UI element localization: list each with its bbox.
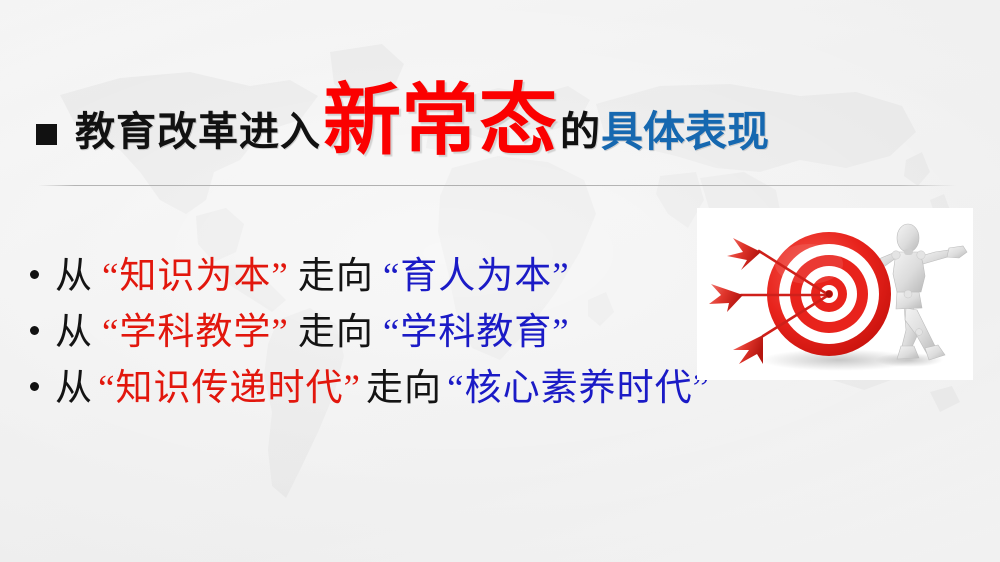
- bullet-1-seg-3: “育人为本”: [383, 258, 570, 295]
- bullet-1-seg-0: 从: [55, 258, 93, 295]
- slide-canvas: 教育改革进入 新常态 的 具体表现 从 “知识为本” 走向 “育人为本” 从 “…: [0, 0, 1000, 562]
- list-item: 从 “知识为本” 走向 “育人为本”: [30, 258, 710, 314]
- title-divider: [38, 185, 956, 186]
- bullet-3-seg-0: 从: [55, 370, 93, 407]
- bullet-2-seg-2: 走向: [298, 314, 374, 351]
- title-segment-red: 新常态: [323, 88, 557, 154]
- bullet-2-seg-1: “学科教学”: [102, 314, 289, 351]
- title-segment-de: 的: [560, 112, 600, 152]
- bullet-1-seg-1: “知识为本”: [102, 258, 289, 295]
- list-item: 从 “知识传递时代” 走向 “核心素养时代”: [30, 370, 710, 426]
- round-bullet-icon: [30, 326, 39, 335]
- bullet-2-seg-3: “学科教育”: [383, 314, 570, 351]
- bullet-3-seg-3: “核心素养时代”: [447, 370, 710, 407]
- bullet-3-seg-1: “知识传递时代”: [98, 370, 361, 407]
- bullet-2-seg-0: 从: [55, 314, 93, 351]
- bullet-list: 从 “知识为本” 走向 “育人为本” 从 “学科教学” 走向 “学科教育” 从 …: [30, 258, 710, 426]
- title-segment-black: 教育改革进入: [75, 112, 321, 152]
- bullet-1-seg-2: 走向: [298, 258, 374, 295]
- square-bullet-icon: [36, 124, 57, 145]
- page-title: 教育改革进入 新常态 的 具体表现: [36, 88, 769, 154]
- title-segment-blue: 具体表现: [601, 111, 769, 153]
- bullet-3-seg-2: 走向: [366, 370, 442, 407]
- round-bullet-icon: [30, 270, 39, 279]
- target-illustration-image: [697, 208, 973, 380]
- list-item: 从 “学科教学” 走向 “学科教育”: [30, 314, 710, 370]
- round-bullet-icon: [30, 382, 39, 391]
